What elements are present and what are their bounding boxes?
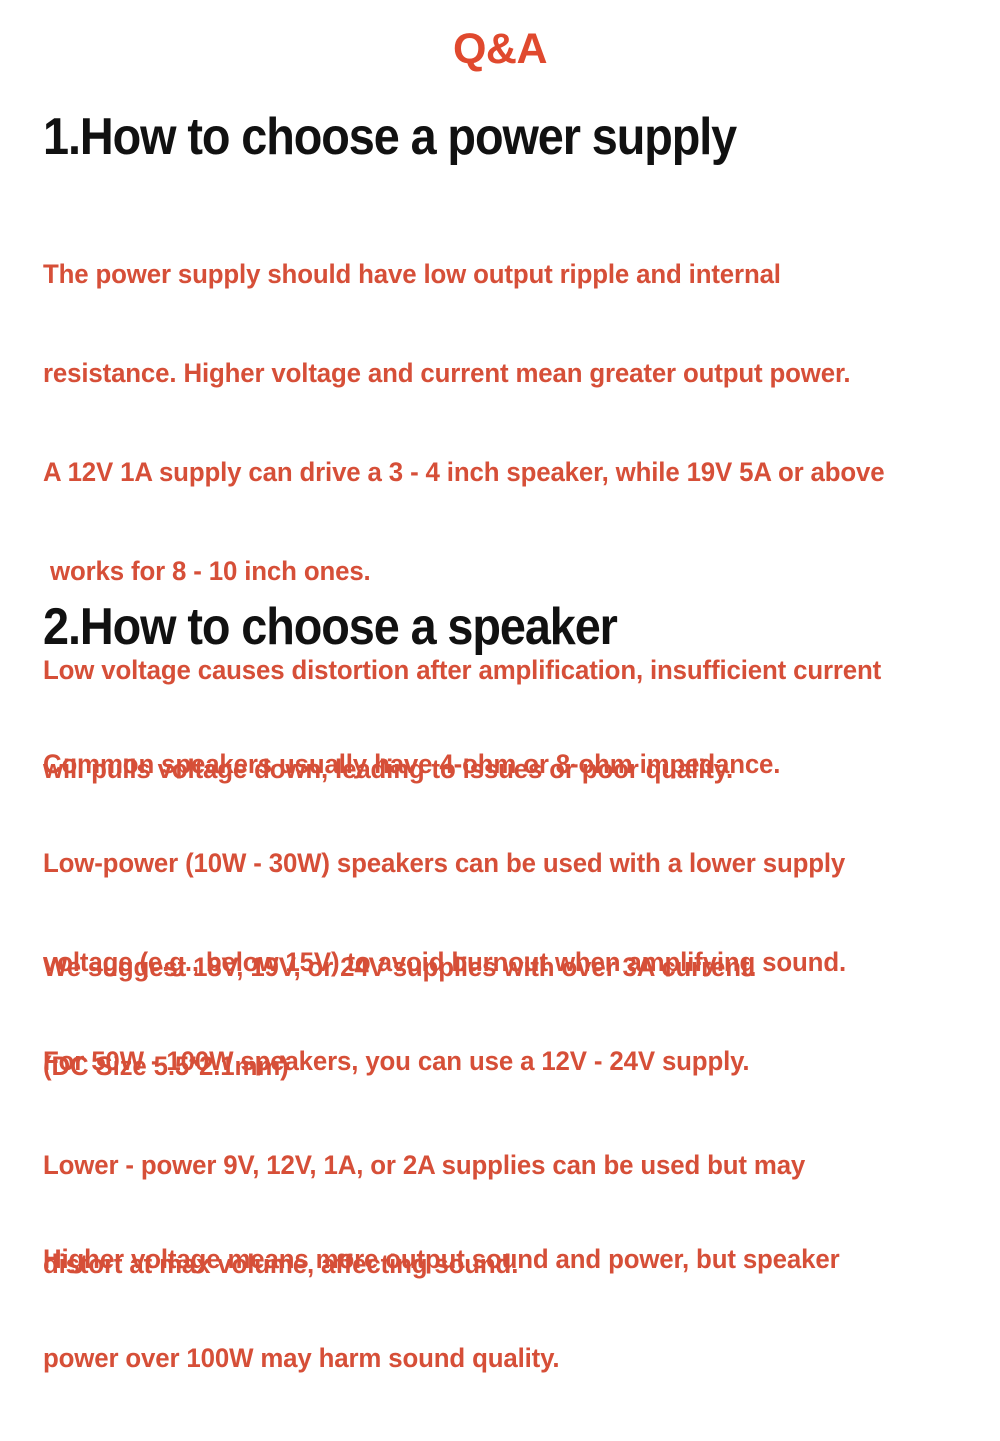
text-line: Common speakers usually have 4-ohm or 8-…: [43, 748, 950, 781]
text-line: For 50W - 100W speakers, you can use a 1…: [43, 1045, 950, 1078]
paragraph: Higher voltage means more output sound a…: [43, 1177, 950, 1441]
text-line: Low-power (10W - 30W) speakers can be us…: [43, 847, 950, 880]
paragraph: Common speakers usually have 4-ohm or 8-…: [43, 682, 950, 1144]
text-line: Higher voltage means more output sound a…: [43, 1243, 950, 1276]
page-title: Q&A: [0, 28, 1000, 71]
text-line: resistance. Higher voltage and current m…: [43, 357, 950, 390]
section-2-body: Common speakers usually have 4-ohm or 8-…: [43, 682, 973, 1441]
text-line: voltage (e.g., below 15V) to avoid burno…: [43, 946, 950, 979]
section-heading-1: 1.How to choose a power supply: [43, 108, 880, 166]
qa-document-page: Q&A 1.How to choose a power supply The p…: [0, 0, 1000, 1000]
text-line: The power supply should have low output …: [43, 258, 950, 291]
text-line: power over 100W may harm sound quality.: [43, 1342, 950, 1375]
text-line: works for 8 - 10 inch ones.: [43, 555, 950, 588]
section-speaker: 2.How to choose a speaker Common speaker…: [43, 598, 973, 1441]
text-line: A 12V 1A supply can drive a 3 - 4 inch s…: [43, 456, 950, 489]
section-heading-2: 2.How to choose a speaker: [43, 598, 880, 656]
